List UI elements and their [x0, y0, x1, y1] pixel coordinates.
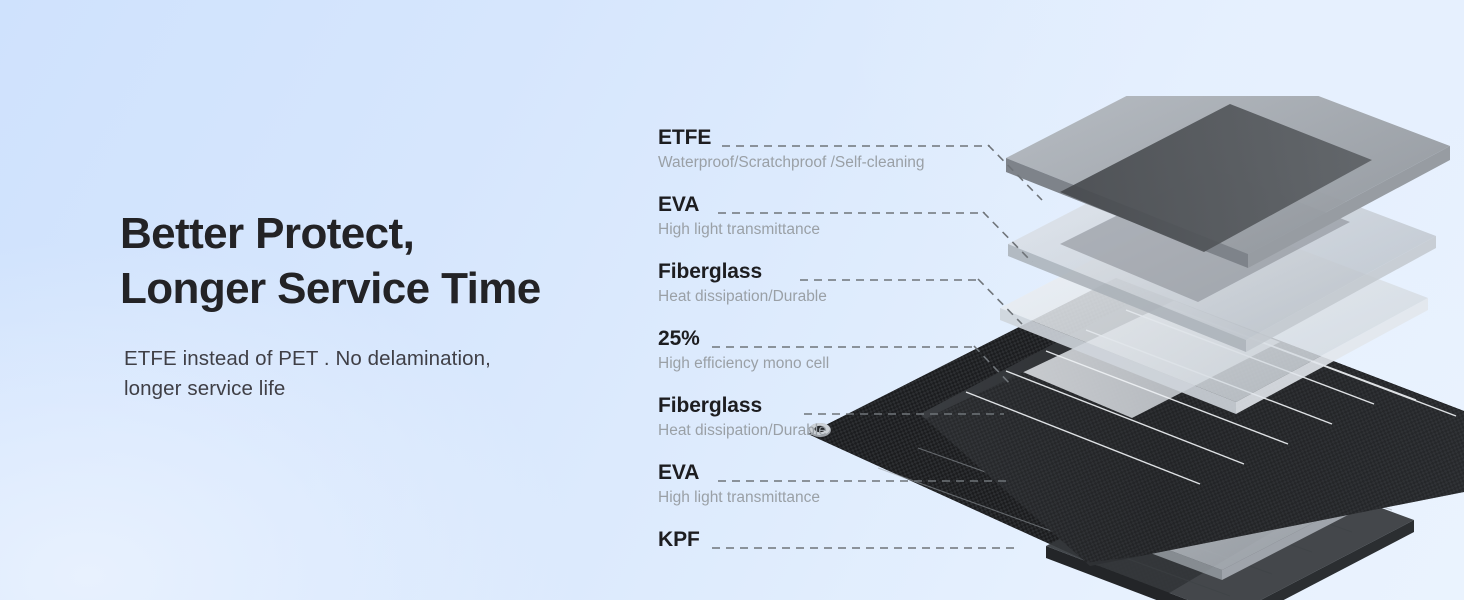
- layer-label-eva-upper: EVA High light transmittance: [658, 193, 820, 240]
- layer-label-kpf: KPF: [658, 528, 700, 552]
- layer-subtitle: High efficiency mono cell: [658, 354, 829, 374]
- layer-subtitle: High light transmittance: [658, 488, 820, 508]
- layer-subtitle: Heat dissipation/Durable: [658, 421, 827, 441]
- layer-label-efficiency: 25% High efficiency mono cell: [658, 327, 829, 374]
- layer-label-fiberglass-lower: Fiberglass Heat dissipation/Durable: [658, 394, 827, 441]
- layer-title: EVA: [658, 461, 820, 485]
- layer-subtitle: Heat dissipation/Durable: [658, 287, 827, 307]
- layer-subtitle: Waterproof/Scratchproof /Self-cleaning: [658, 153, 925, 173]
- layer-title: EVA: [658, 193, 820, 217]
- layer-title: KPF: [658, 528, 700, 552]
- page-subtitle: ETFE instead of PET . No delamination, l…: [124, 344, 640, 404]
- page-title: Better Protect, Longer Service Time: [120, 206, 640, 316]
- layer-title: 25%: [658, 327, 829, 351]
- copy-block: Better Protect, Longer Service Time ETFE…: [120, 206, 640, 404]
- layer-title: Fiberglass: [658, 260, 827, 284]
- layer-label-eva-lower: EVA High light transmittance: [658, 461, 820, 508]
- layer-title: ETFE: [658, 126, 925, 150]
- layer-title: Fiberglass: [658, 394, 827, 418]
- layer-subtitle: High light transmittance: [658, 220, 820, 240]
- layer-label-etfe: ETFE Waterproof/Scratchproof /Self-clean…: [658, 126, 925, 173]
- infographic-banner: Better Protect, Longer Service Time ETFE…: [0, 0, 1464, 600]
- layer-label-fiberglass-upper: Fiberglass Heat dissipation/Durable: [658, 260, 827, 307]
